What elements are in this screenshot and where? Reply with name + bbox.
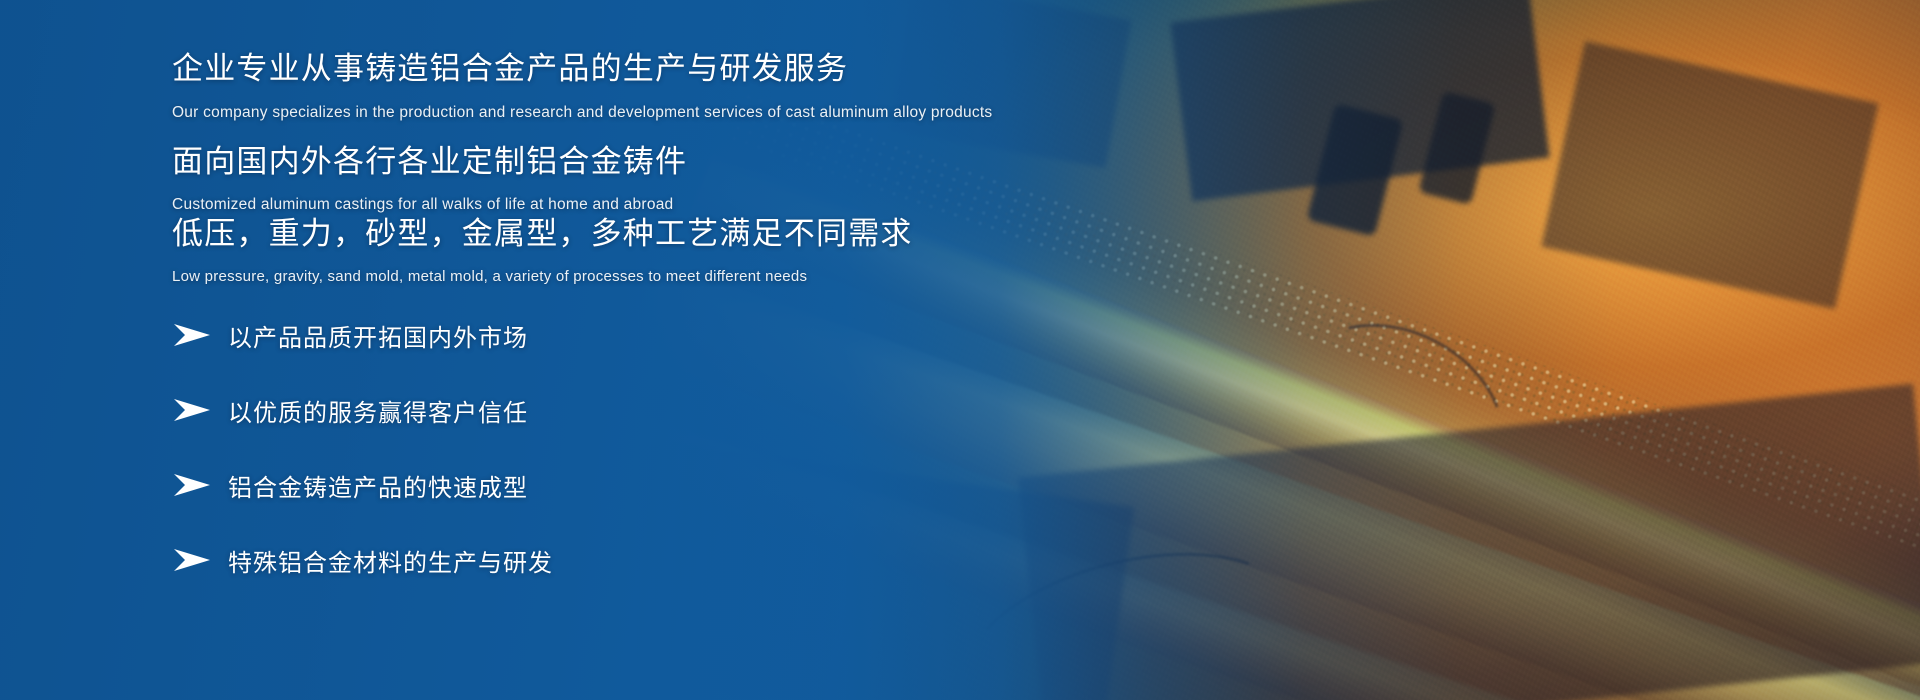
list-item: 特殊铝合金材料的生产与研发 <box>172 541 553 579</box>
list-item-label: 以优质的服务赢得客户信任 <box>228 393 528 428</box>
feature-bullet-list: 以产品品质开拓国内外市场 以优质的服务赢得客户信任 铝合金铸造产品的快速成型 特… <box>172 316 553 616</box>
headline-block-1: 企业专业从事铸造铝合金产品的生产与研发服务 Our company specia… <box>172 50 992 123</box>
headline-block-3: 低压，重力，砂型，金属型，多种工艺满足不同需求 Low pressure, gr… <box>172 215 913 286</box>
headline-block-2: 面向国内外各行各业定制铝合金铸件 Customized aluminum cas… <box>172 143 687 215</box>
list-item-label: 特殊铝合金材料的生产与研发 <box>228 543 553 578</box>
list-item: 以优质的服务赢得客户信任 <box>172 391 553 429</box>
list-item: 铝合金铸造产品的快速成型 <box>172 466 553 504</box>
banner-content: 企业专业从事铸造铝合金产品的生产与研发服务 Our company specia… <box>172 0 1352 700</box>
headline-en-3: Low pressure, gravity, sand mold, metal … <box>172 267 913 287</box>
list-item-label: 铝合金铸造产品的快速成型 <box>228 468 528 503</box>
headline-cn-2: 面向国内外各行各业定制铝合金铸件 <box>172 143 687 182</box>
arrow-right-icon <box>172 398 212 422</box>
arrow-right-icon <box>172 473 212 497</box>
list-item: 以产品品质开拓国内外市场 <box>172 316 553 354</box>
list-item-label: 以产品品质开拓国内外市场 <box>228 318 528 353</box>
arrow-right-icon <box>172 548 212 572</box>
headline-cn-3: 低压，重力，砂型，金属型，多种工艺满足不同需求 <box>172 215 913 254</box>
headline-en-1: Our company specializes in the productio… <box>172 103 992 123</box>
headline-cn-1: 企业专业从事铸造铝合金产品的生产与研发服务 <box>172 50 992 89</box>
hero-banner: 企业专业从事铸造铝合金产品的生产与研发服务 Our company specia… <box>0 0 1920 700</box>
arrow-right-icon <box>172 323 212 347</box>
headline-en-2: Customized aluminum castings for all wal… <box>172 195 687 215</box>
